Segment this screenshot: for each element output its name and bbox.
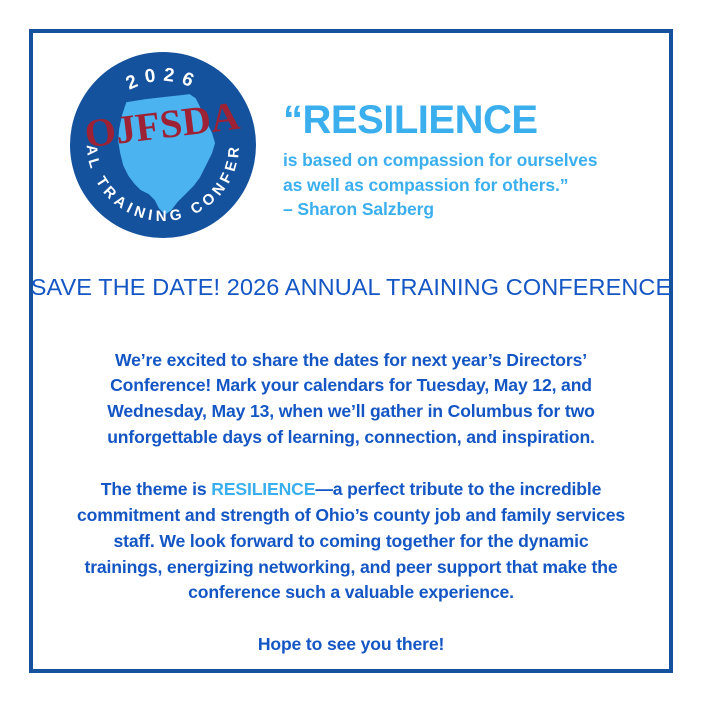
quote-line-1: is based on compassion for ourselves bbox=[283, 150, 597, 170]
save-the-date-poster: 2026 ANNUAL TRAINING CONFERENCE OJFSDA “… bbox=[0, 0, 702, 702]
header-section: 2026 ANNUAL TRAINING CONFERENCE OJFSDA “… bbox=[0, 0, 702, 258]
paragraph-theme: The theme is RESILIENCE—a perfect tribut… bbox=[76, 477, 626, 606]
theme-highlight-word: RESILIENCE bbox=[211, 479, 315, 499]
ojfsda-conference-logo: 2026 ANNUAL TRAINING CONFERENCE OJFSDA bbox=[70, 52, 256, 238]
quote-line-2: as well as compassion for others.” bbox=[283, 175, 568, 195]
quote-attribution: – Sharon Salzberg bbox=[283, 197, 663, 222]
closing-line: Hope to see you there! bbox=[76, 632, 626, 658]
quote-text: is based on compassion for ourselves as … bbox=[283, 148, 663, 198]
quote-headword: “RESILIENCE bbox=[283, 100, 663, 141]
page-title: SAVE THE DATE! 2026 ANNUAL TRAINING CONF… bbox=[0, 274, 702, 301]
body-copy: We’re excited to share the dates for nex… bbox=[76, 330, 626, 676]
quote-block: “RESILIENCE is based on compassion for o… bbox=[283, 100, 663, 222]
theme-intro-text: The theme is bbox=[101, 479, 212, 499]
paragraph-dates: We’re excited to share the dates for nex… bbox=[76, 348, 626, 451]
